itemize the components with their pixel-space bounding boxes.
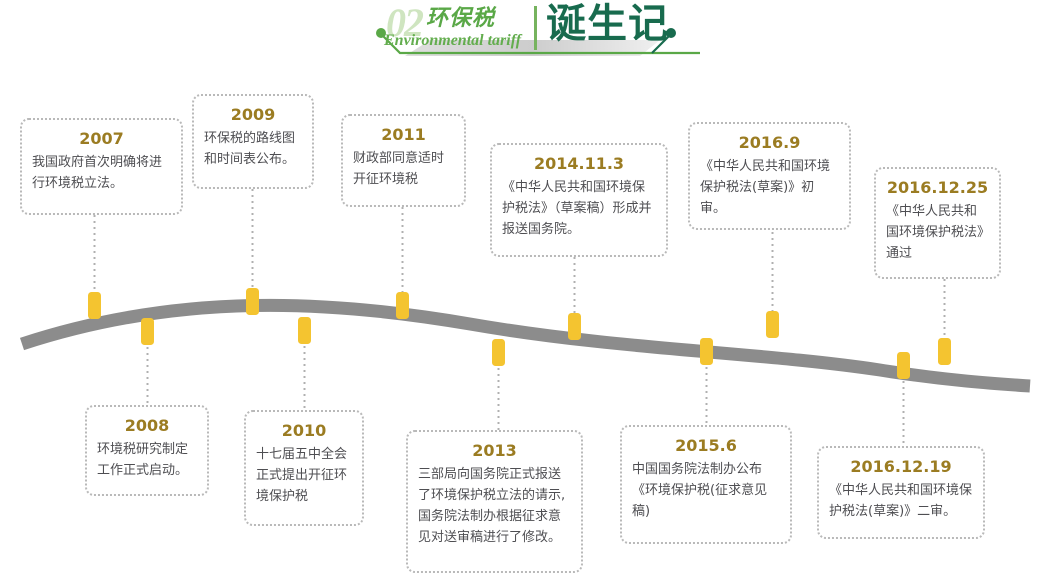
timeline-card: 2013三部局向国务院正式报送了环境保护税立法的请示,国务院法制办根据征求意见对… bbox=[406, 430, 583, 573]
timeline-card: 2016.12.19《中华人民共和国环境保护税法(草案)》二审。 bbox=[817, 446, 985, 539]
title-divider bbox=[534, 6, 537, 50]
timeline-marker[interactable] bbox=[568, 313, 581, 340]
timeline-markers bbox=[88, 288, 951, 379]
timeline-marker[interactable] bbox=[897, 352, 910, 379]
timeline-card-year: 2007 bbox=[32, 128, 171, 150]
timeline-marker[interactable] bbox=[700, 338, 713, 365]
timeline-marker[interactable] bbox=[141, 318, 154, 345]
timeline-marker[interactable] bbox=[396, 292, 409, 319]
page-header: 02 环保税 Environmental tariff 诞生记 bbox=[0, 0, 1050, 62]
timeline-card-text: 《中华人民共和国环境保护税法(草案)》初审。 bbox=[700, 156, 839, 219]
timeline-card-text: 环保税的路线图和时间表公布。 bbox=[204, 128, 302, 170]
timeline-marker[interactable] bbox=[88, 292, 101, 319]
timeline-card-year: 2010 bbox=[256, 420, 352, 442]
section-cn-label: 环保税 bbox=[426, 7, 495, 29]
timeline-card-year: 2011 bbox=[353, 124, 454, 146]
timeline-card-text: 环境税研究制定工作正式启动。 bbox=[97, 439, 197, 481]
timeline-marker[interactable] bbox=[938, 338, 951, 365]
timeline-card: 2016.9《中华人民共和国环境保护税法(草案)》初审。 bbox=[688, 122, 851, 230]
timeline-card-year: 2016.12.19 bbox=[829, 456, 973, 478]
timeline-card: 2008环境税研究制定工作正式启动。 bbox=[85, 405, 209, 496]
timeline-marker[interactable] bbox=[246, 288, 259, 315]
timeline-card: 2015.6中国国务院法制办公布《环境保护税(征求意见稿) bbox=[620, 425, 792, 544]
timeline-card-text: 我国政府首次明确将进行环境税立法。 bbox=[32, 152, 171, 194]
timeline-card-year: 2016.9 bbox=[700, 132, 839, 154]
header-title-group: 02 环保税 Environmental tariff 诞生记 bbox=[382, 2, 672, 58]
timeline-card-text: 中国国务院法制办公布《环境保护税(征求意见稿) bbox=[632, 459, 780, 522]
page-title: 诞生记 bbox=[546, 0, 669, 48]
timeline-marker[interactable] bbox=[298, 317, 311, 344]
timeline-card-year: 2013 bbox=[418, 440, 571, 462]
timeline-card-text: 《中华人民共和国环境保护税法》（草案稿）形成并报送国务院。 bbox=[502, 177, 656, 240]
timeline-card-year: 2014.11.3 bbox=[502, 153, 656, 175]
timeline-card: 2011财政部同意适时开征环境税 bbox=[341, 114, 466, 207]
timeline-card-text: 三部局向国务院正式报送了环境保护税立法的请示,国务院法制办根据征求意见对送审稿进… bbox=[418, 464, 571, 548]
timeline-card: 2009环保税的路线图和时间表公布。 bbox=[192, 94, 314, 189]
timeline-card-text: 《中华人民共和国环境保护税法(草案)》二审。 bbox=[829, 480, 973, 522]
timeline-card: 2010十七届五中全会正式提出开征环境保护税 bbox=[244, 410, 364, 526]
timeline-card: 2014.11.3《中华人民共和国环境保护税法》（草案稿）形成并报送国务院。 bbox=[490, 143, 668, 257]
timeline-road bbox=[22, 305, 1030, 386]
timeline-card-text: 十七届五中全会正式提出开征环境保护税 bbox=[256, 444, 352, 507]
timeline-marker[interactable] bbox=[766, 311, 779, 338]
timeline-card: 2007我国政府首次明确将进行环境税立法。 bbox=[20, 118, 183, 215]
timeline-card-year: 2009 bbox=[204, 104, 302, 126]
timeline-marker[interactable] bbox=[492, 339, 505, 366]
timeline-card-year: 2016.12.25 bbox=[886, 177, 989, 199]
timeline-card-text: 《中华人民共和国环境保护税法》通过 bbox=[886, 201, 989, 264]
timeline-card: 2016.12.25《中华人民共和国环境保护税法》通过 bbox=[874, 167, 1001, 279]
section-en-label: Environmental tariff bbox=[384, 33, 521, 49]
timeline-card-year: 2008 bbox=[97, 415, 197, 437]
timeline-card-year: 2015.6 bbox=[632, 435, 780, 457]
timeline-card-text: 财政部同意适时开征环境税 bbox=[353, 148, 454, 190]
